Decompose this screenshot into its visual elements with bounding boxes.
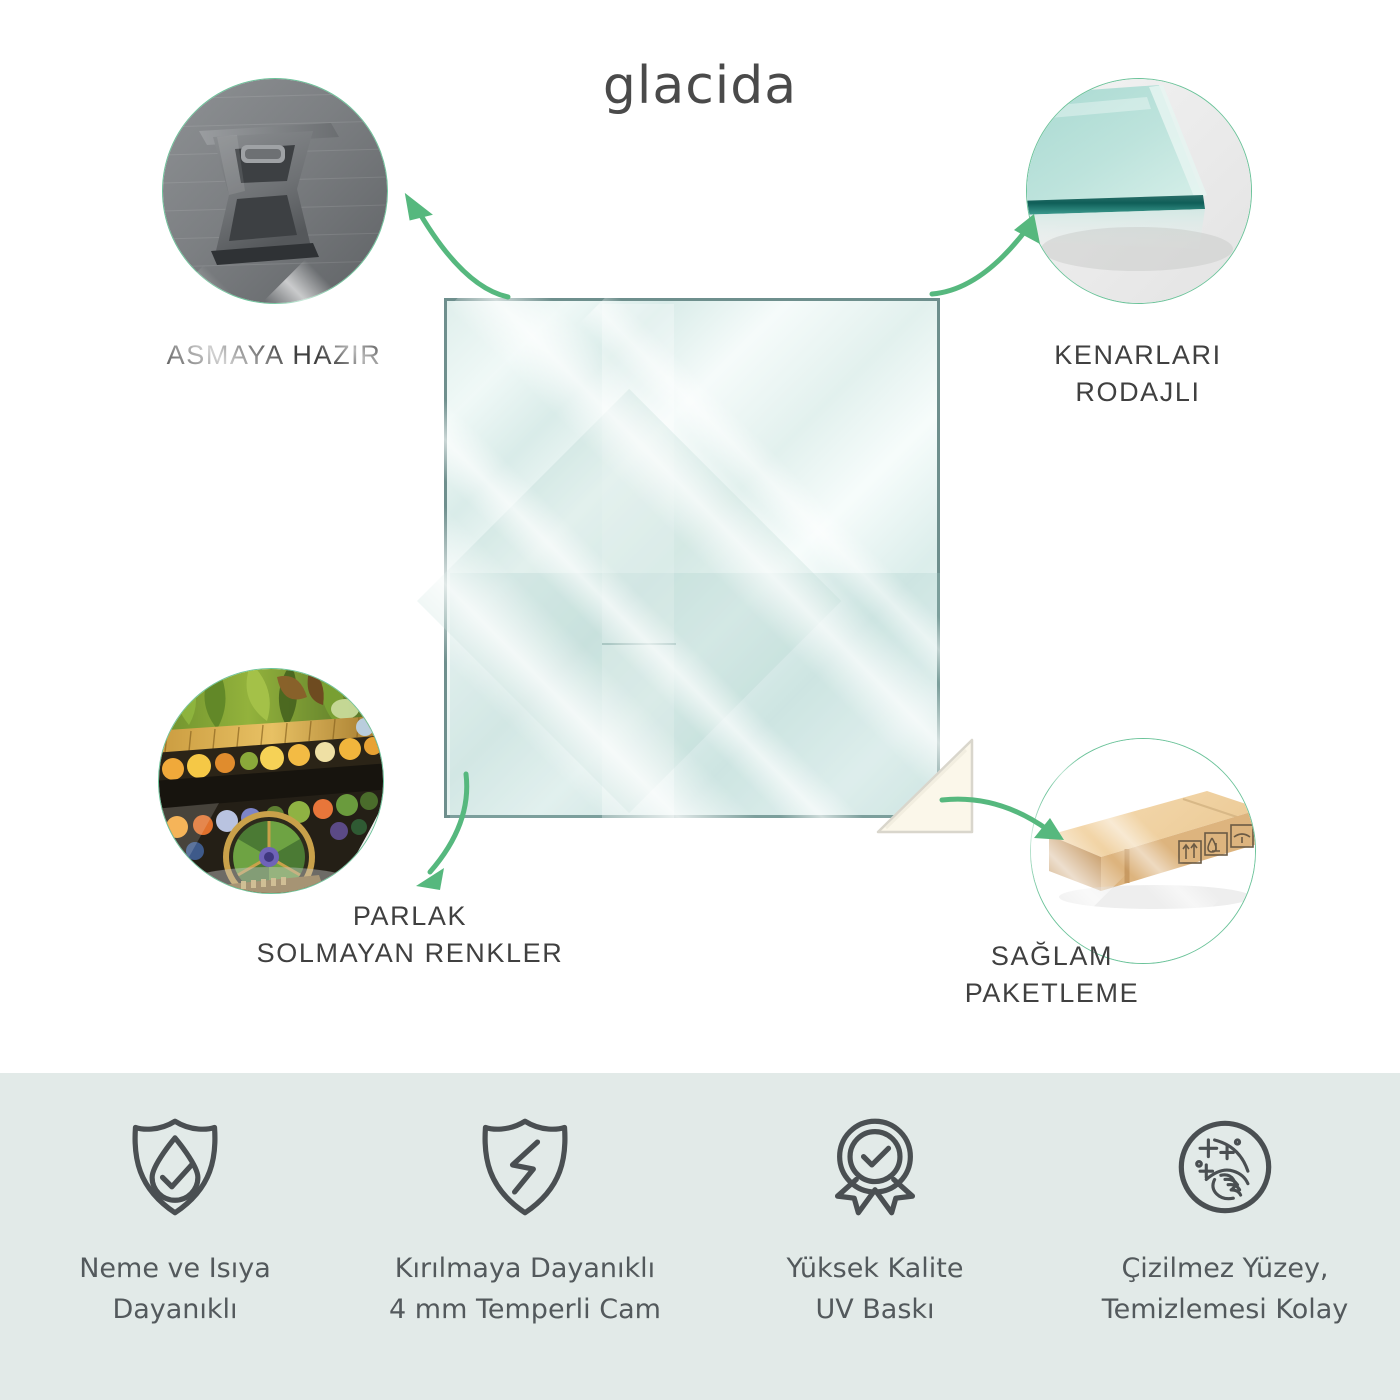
cardboard-box-icon	[1031, 739, 1255, 963]
spec-item-yuksek-kalite-uv-baski: Yüksek Kalite UV Baskı	[700, 1073, 1050, 1400]
award-ribbon-check-icon	[823, 1115, 927, 1219]
feature-label-kenarlari-rodajli: KENARLARIRODAJLI	[938, 337, 1338, 412]
wall-mount-bracket-icon	[163, 79, 387, 303]
glass-hairline	[602, 643, 676, 645]
feature-label-saglam-paketleme: SAĞLAMPAKETLEME	[882, 938, 1222, 1013]
arrow-to-asmaya-hazir	[390, 175, 520, 305]
spec-item-cizilmez-yuzey: Çizilmez Yüzey, Temizlemesi Kolay	[1050, 1073, 1400, 1400]
feature-circle-asmaya-hazir	[162, 78, 388, 304]
feature-circle-saglam-paketleme	[1030, 738, 1256, 964]
feature-circle-kenarlari-rodajli	[1026, 78, 1252, 304]
spec-label-neme-ve-isiya-dayanikli: Neme ve Isıya Dayanıklı	[71, 1249, 279, 1330]
spec-label-yuksek-kalite-uv-baski: Yüksek Kalite UV Baskı	[778, 1249, 971, 1330]
product-glass-panel	[444, 298, 940, 818]
spec-item-kirilmaya-dayanikli: Kırılmaya Dayanıklı 4 mm Temperli Cam	[350, 1073, 700, 1400]
feature-label-parlak-solmayan-renkler: PARLAKSOLMAYAN RENKLER	[205, 898, 615, 973]
polished-glass-edge-icon	[1027, 79, 1251, 303]
peeled-protective-film-icon	[876, 736, 976, 836]
feature-label-asmaya-hazir: ASMAYA HAZIR	[74, 337, 474, 374]
feature-circle-parlak-solmayan-renkler	[158, 668, 384, 894]
shield-water-drop-check-icon	[123, 1115, 227, 1219]
spec-label-kirilmaya-dayanikli: Kırılmaya Dayanıklı 4 mm Temperli Cam	[381, 1249, 669, 1330]
stained-glass-art-icon	[159, 669, 383, 893]
shield-bolt-icon	[473, 1115, 577, 1219]
spec-item-neme-ve-isiya-dayanikli: Neme ve Isıya Dayanıklı	[0, 1073, 350, 1400]
spec-strip: Neme ve Isıya Dayanıklı Kırılmaya Dayanı…	[0, 1073, 1400, 1400]
sparkle-wipe-hand-icon	[1173, 1115, 1277, 1219]
glass-tint-lower	[450, 573, 940, 818]
glass-tint-column	[602, 304, 674, 818]
spec-label-cizilmez-yuzey: Çizilmez Yüzey, Temizlemesi Kolay	[1094, 1249, 1357, 1330]
infographic-canvas: glacida	[0, 0, 1400, 1400]
glass-surface	[444, 298, 940, 818]
glass-tint-diagonal	[417, 389, 841, 813]
